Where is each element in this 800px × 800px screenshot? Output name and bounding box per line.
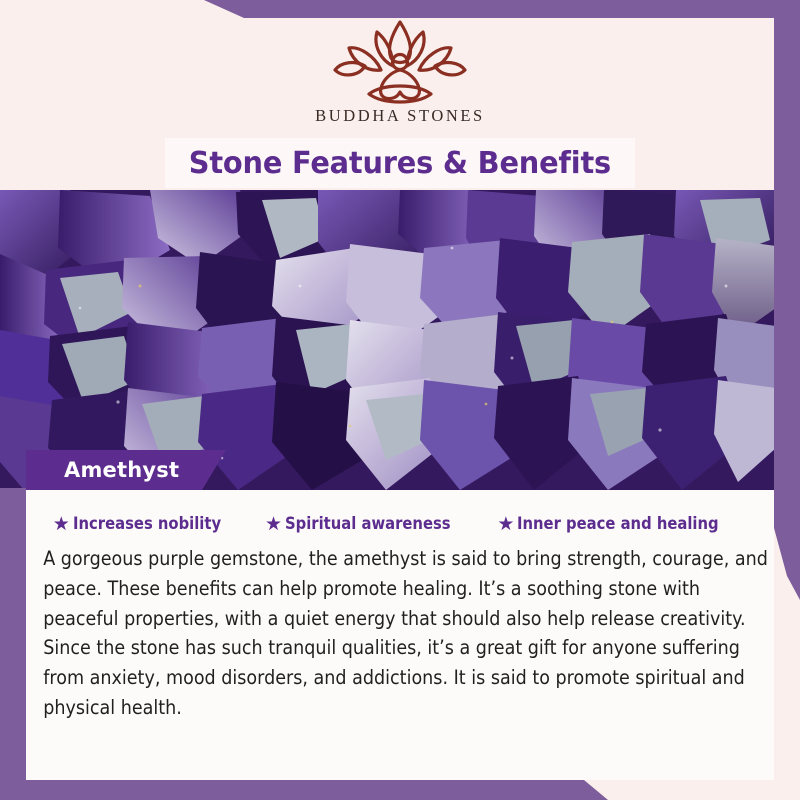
page-title: Stone Features & Benefits xyxy=(165,138,635,188)
benefit-label: Spiritual awareness xyxy=(285,514,451,534)
frame-right-accent xyxy=(774,0,800,600)
list-item: ★ Inner peace and healing xyxy=(497,514,749,534)
description-text: A gorgeous purple gemstone, the amethyst… xyxy=(36,540,780,723)
frame-bottom-accent xyxy=(0,780,800,800)
star-icon: ★ xyxy=(265,515,282,534)
frame-left-accent xyxy=(0,488,26,800)
benefit-label: Increases nobility xyxy=(73,514,221,534)
content-panel: ★ Increases nobility ★ Spiritual awarene… xyxy=(26,490,774,780)
brand-name: BUDDHA STONES xyxy=(315,106,485,126)
product-info-card: Amethyst xyxy=(0,0,800,800)
list-item: ★ Increases nobility xyxy=(53,514,243,534)
page-title-text: Stone Features & Benefits xyxy=(189,146,611,181)
amethyst-crystal-cluster-photo xyxy=(0,190,776,490)
amethyst-photo-graphic xyxy=(0,190,776,490)
lotus-meditation-icon xyxy=(325,18,475,104)
list-item: ★ Spiritual awareness xyxy=(265,514,475,534)
status-badge: Amethyst xyxy=(26,450,226,490)
brand-logo: BUDDHA STONES xyxy=(26,18,774,126)
benefit-label: Inner peace and healing xyxy=(517,514,719,534)
stone-name-label: Amethyst xyxy=(26,458,179,482)
star-icon: ★ xyxy=(497,515,514,534)
star-icon: ★ xyxy=(53,515,70,534)
benefits-list: ★ Increases nobility ★ Spiritual awarene… xyxy=(36,496,766,540)
